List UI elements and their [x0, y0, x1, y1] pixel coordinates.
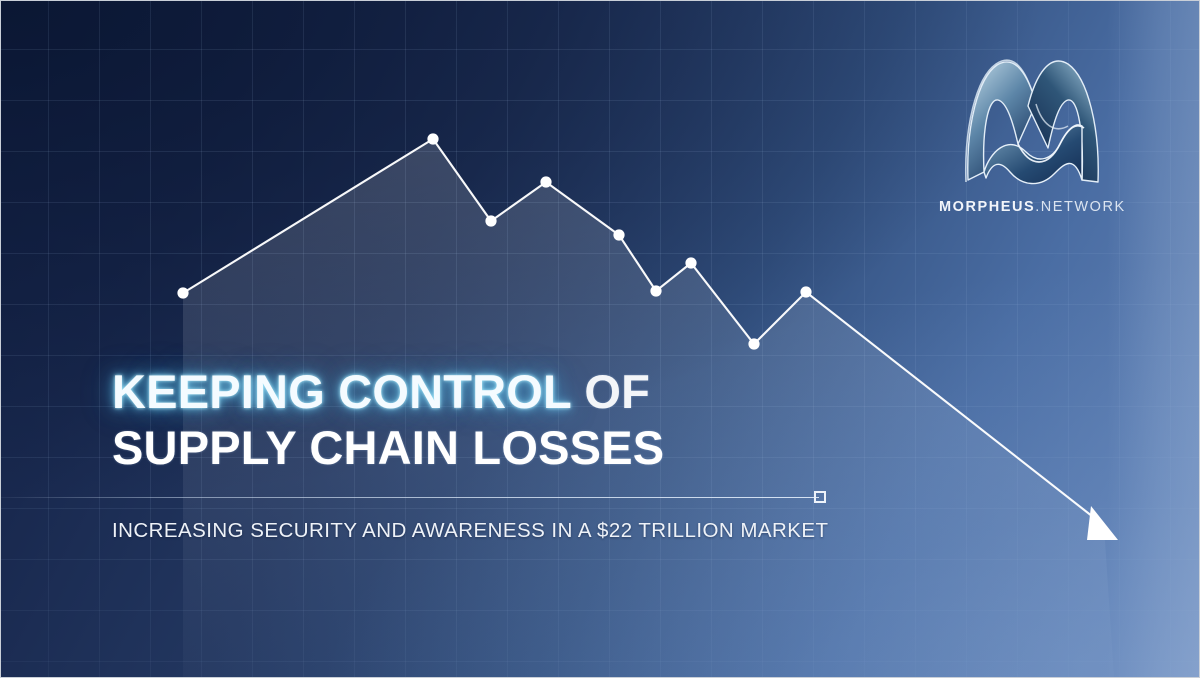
- chart-arrowhead: [1087, 506, 1118, 540]
- logo-brand-text: MORPHEUS: [939, 199, 1035, 215]
- headline-line-2: SUPPLY CHAIN LOSSES: [112, 420, 952, 476]
- logo[interactable]: MORPHEUS.NETWORK: [939, 48, 1125, 215]
- morpheus-m-logo-icon: [956, 48, 1108, 190]
- logo-tld-text: .NETWORK: [1035, 199, 1126, 215]
- divider-square-marker: [814, 491, 826, 503]
- headline-plain-text: OF: [571, 365, 650, 418]
- slide-canvas: MORPHEUS.NETWORK KEEPING CONTROL OF SUPP…: [0, 0, 1200, 678]
- page-title: KEEPING CONTROL OF SUPPLY CHAIN LOSSES: [112, 364, 952, 476]
- divider: [1, 491, 831, 505]
- headline-line-1: KEEPING CONTROL OF: [112, 364, 952, 420]
- divider-line: [1, 497, 819, 498]
- logo-wordmark: MORPHEUS.NETWORK: [939, 199, 1125, 215]
- headline-highlight-text: KEEPING CONTROL: [112, 365, 571, 418]
- subtitle: INCREASING SECURITY AND AWARENESS IN A $…: [112, 519, 828, 543]
